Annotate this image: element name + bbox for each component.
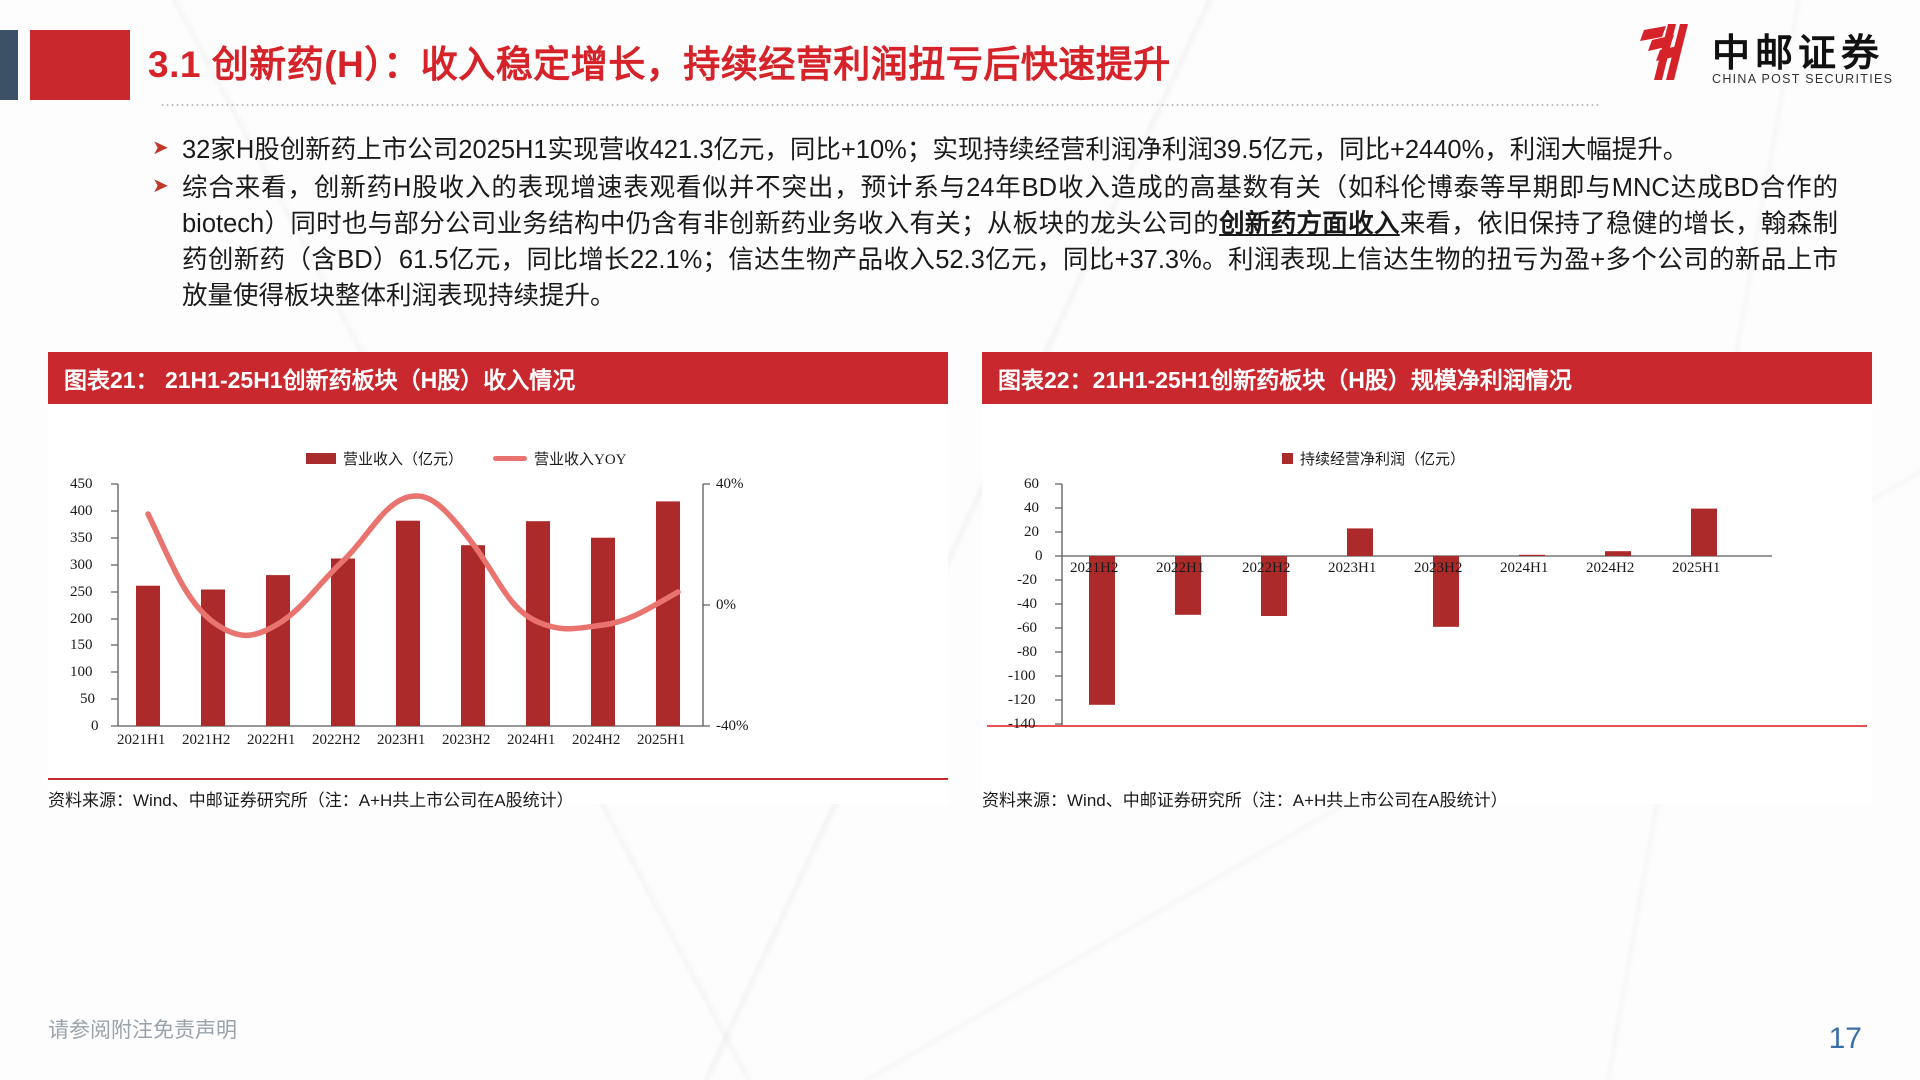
profit-ytick-60: 60 bbox=[1024, 476, 1039, 493]
rev-ytick-100: 100 bbox=[70, 664, 93, 681]
rev-xtick-0: 2021H1 bbox=[117, 732, 165, 749]
rev-xtick-1: 2021H2 bbox=[182, 732, 230, 749]
rev-ytick-450: 450 bbox=[70, 476, 93, 493]
rev-ytick-300: 300 bbox=[70, 557, 93, 574]
profit-chart-svg bbox=[982, 404, 1872, 804]
rev-xtick-3: 2022H2 bbox=[312, 732, 360, 749]
profit-ytick-n40: -40 bbox=[1017, 596, 1037, 613]
chart-panel-revenue: 图表21： 21H1-25H1创新药板块（H股）收入情况 营业收入（亿元） 营业… bbox=[48, 352, 948, 804]
source-divider-1 bbox=[48, 778, 948, 780]
page-title: 3.1 创新药(H）：收入稳定增长，持续经营利润扭亏后快速提升 bbox=[148, 34, 1171, 88]
profit-ytick-n140: -140 bbox=[1008, 716, 1036, 733]
china-post-logo-icon bbox=[1640, 24, 1702, 80]
rev-xtick-8: 2025H1 bbox=[637, 732, 685, 749]
rev-y2tick-40: 40% bbox=[716, 476, 744, 493]
profit-ytick-n120: -120 bbox=[1008, 692, 1036, 709]
rev-xtick-7: 2024H2 bbox=[572, 732, 620, 749]
bullet-arrow-icon: ➤ bbox=[152, 138, 169, 158]
profit-xtick-5: 2024H1 bbox=[1500, 560, 1548, 577]
rev-ytick-150: 150 bbox=[70, 637, 93, 654]
slide-header: 3.1 创新药(H）：收入稳定增长，持续经营利润扭亏后快速提升 中邮证券 CHI… bbox=[0, 0, 1920, 120]
rev-xtick-2: 2022H1 bbox=[247, 732, 295, 749]
profit-ytick-n100: -100 bbox=[1008, 668, 1036, 685]
profit-ytick-0: 0 bbox=[1035, 548, 1043, 565]
brand-name-cn: 中邮证券 bbox=[1712, 22, 1884, 77]
rev-y2tick-0: 0% bbox=[716, 597, 736, 614]
brand-name-en: CHINA POST SECURITIES bbox=[1712, 72, 1893, 86]
profit-xtick-1: 2022H1 bbox=[1156, 560, 1204, 577]
profit-xtick-2: 2022H2 bbox=[1242, 560, 1290, 577]
rev-y2tick-neg40: -40% bbox=[716, 718, 749, 735]
header-divider bbox=[160, 104, 1600, 106]
source-text-1: 资料来源：Wind、中邮证券研究所（注：A+H共上市公司在A股统计） bbox=[48, 786, 574, 811]
profit-ytick-40: 40 bbox=[1024, 500, 1039, 517]
bullet-arrow-icon: ➤ bbox=[152, 176, 169, 196]
chart-panel-revenue-title: 图表21： 21H1-25H1创新药板块（H股）收入情况 bbox=[48, 352, 948, 404]
bullet-text-2-emphasis: 创新药方面收入 bbox=[1219, 210, 1400, 238]
profit-xtick-0: 2021H2 bbox=[1070, 560, 1118, 577]
profit-ytick-n60: -60 bbox=[1017, 620, 1037, 637]
rev-ytick-0: 0 bbox=[91, 718, 99, 735]
profit-xtick-6: 2024H2 bbox=[1586, 560, 1634, 577]
bullet-item-1: ➤ 32家H股创新药上市公司2025H1实现营收421.3亿元，同比+10%；实… bbox=[148, 132, 1838, 168]
brand-logo: 中邮证券 CHINA POST SECURITIES bbox=[1640, 22, 1860, 98]
rev-ytick-250: 250 bbox=[70, 584, 93, 601]
profit-ytick-n80: -80 bbox=[1017, 644, 1037, 661]
rev-xtick-5: 2023H2 bbox=[442, 732, 490, 749]
footer-page-number: 17 bbox=[1829, 1022, 1862, 1056]
source-text-2: 资料来源：Wind、中邮证券研究所（注：A+H共上市公司在A股统计） bbox=[982, 786, 1508, 811]
body-bullets: ➤ 32家H股创新药上市公司2025H1实现营收421.3亿元，同比+10%；实… bbox=[148, 132, 1838, 316]
chart-panel-profit-body: 持续经营净利润（亿元） bbox=[982, 404, 1872, 804]
chart-panel-profit: 图表22：21H1-25H1创新药板块（H股）规模净利润情况 持续经营净利润（亿… bbox=[982, 352, 1872, 804]
header-accent-bar-blue bbox=[0, 30, 18, 100]
header-accent-bar-red bbox=[30, 30, 130, 100]
profit-xtick-4: 2023H2 bbox=[1414, 560, 1462, 577]
bullet-text-2: 综合来看，创新药H股收入的表现增速表观看似并不突出，预计系与24年BD收入造成的… bbox=[182, 170, 1838, 314]
profit-ytick-20: 20 bbox=[1024, 524, 1039, 541]
chart-panel-revenue-body: 营业收入（亿元） 营业收入YOY bbox=[48, 404, 948, 804]
profit-ytick-n20: -20 bbox=[1017, 572, 1037, 589]
footer-disclaimer: 请参阅附注免责声明 bbox=[48, 1014, 237, 1044]
rev-ytick-50: 50 bbox=[80, 691, 95, 708]
rev-xtick-6: 2024H1 bbox=[507, 732, 555, 749]
rev-ytick-200: 200 bbox=[70, 611, 93, 628]
profit-xtick-3: 2023H1 bbox=[1328, 560, 1376, 577]
rev-xtick-4: 2023H1 bbox=[377, 732, 425, 749]
rev-ytick-350: 350 bbox=[70, 530, 93, 547]
bullet-item-2: ➤ 综合来看，创新药H股收入的表现增速表观看似并不突出，预计系与24年BD收入造… bbox=[148, 170, 1838, 314]
chart-panel-profit-title: 图表22：21H1-25H1创新药板块（H股）规模净利润情况 bbox=[982, 352, 1872, 404]
profit-xtick-7: 2025H1 bbox=[1672, 560, 1720, 577]
bullet-text-1: 32家H股创新药上市公司2025H1实现营收421.3亿元，同比+10%；实现持… bbox=[182, 132, 1838, 168]
rev-ytick-400: 400 bbox=[70, 503, 93, 520]
